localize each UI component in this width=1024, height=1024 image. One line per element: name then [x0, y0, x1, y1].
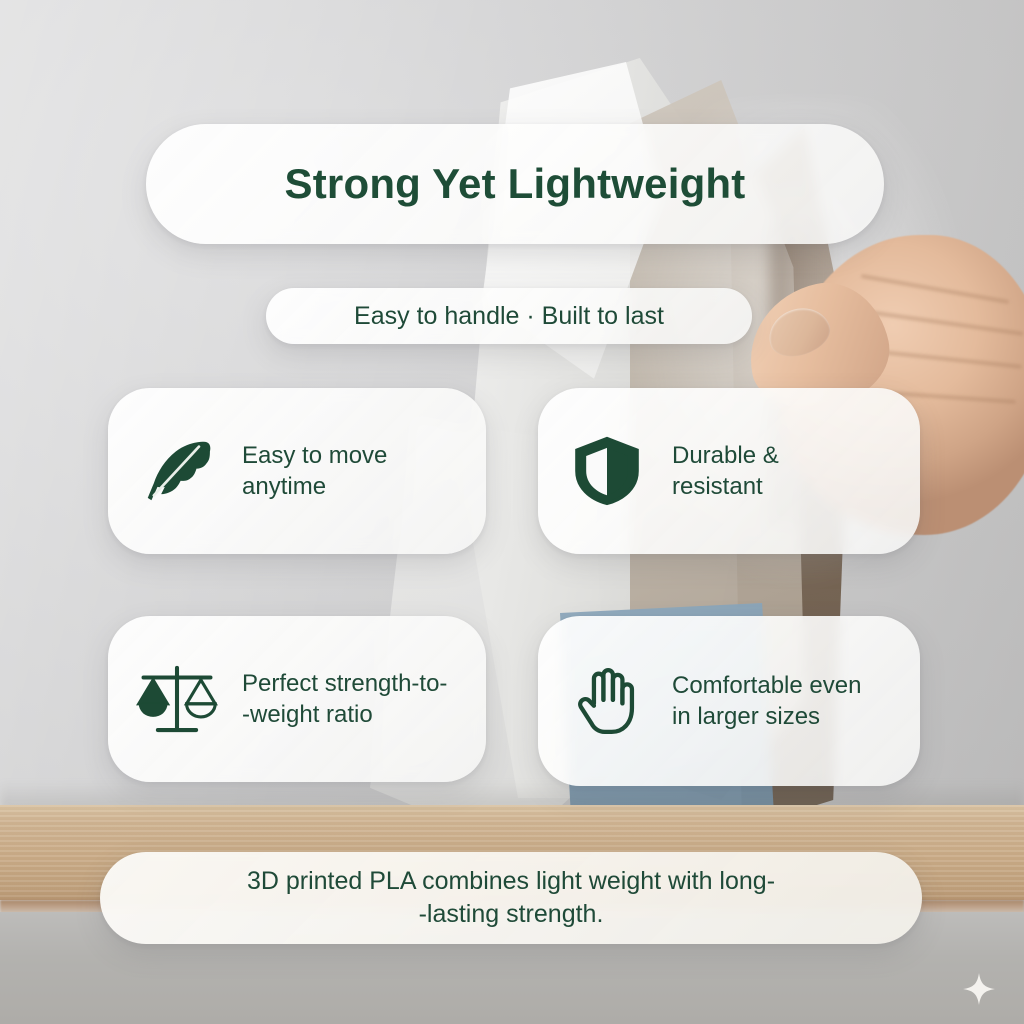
feature-label: Durable & resistant [672, 440, 779, 502]
feather-icon [134, 428, 220, 514]
feature-label-line2: in larger sizes [672, 703, 820, 730]
title-banner: Strong Yet Lightweight [146, 124, 884, 244]
feature-label-line1: Easy to move [242, 442, 387, 469]
footer-text: 3D printed PLA combines light weight wit… [207, 865, 815, 931]
footer-line2: -lasting strength. [419, 900, 604, 928]
feature-label-line1: Comfortable even [672, 672, 861, 699]
feature-label: Easy to move anytime [242, 440, 387, 502]
feature-label: Comfortable even in larger sizes [672, 670, 861, 732]
feature-label-line1: Perfect strength-to- [242, 670, 447, 697]
footer-line1: 3D printed PLA combines light weight wit… [247, 867, 775, 895]
page-subtitle: Easy to handle · Built to last [354, 302, 664, 331]
feature-label-line1: Durable & [672, 442, 779, 469]
feature-label-line2: -weight ratio [242, 701, 373, 728]
feature-label-line2: resistant [672, 473, 763, 500]
feature-label: Perfect strength-to- -weight ratio [242, 668, 447, 730]
shield-icon [564, 428, 650, 514]
feature-card-strength-to-weight[interactable]: Perfect strength-to- -weight ratio [108, 616, 486, 782]
sparkle-icon [962, 972, 996, 1006]
page-title: Strong Yet Lightweight [285, 160, 746, 208]
balance-scale-icon [134, 656, 220, 742]
feature-card-comfortable[interactable]: Comfortable even in larger sizes [538, 616, 920, 786]
feature-card-easy-to-move[interactable]: Easy to move anytime [108, 388, 486, 554]
infographic-canvas: Strong Yet Lightweight Easy to handle · … [0, 0, 1024, 1024]
footer-banner: 3D printed PLA combines light weight wit… [100, 852, 922, 944]
feature-label-line2: anytime [242, 473, 326, 500]
subtitle-banner: Easy to handle · Built to last [266, 288, 752, 344]
feature-card-durable[interactable]: Durable & resistant [538, 388, 920, 554]
open-hand-icon [564, 658, 650, 744]
